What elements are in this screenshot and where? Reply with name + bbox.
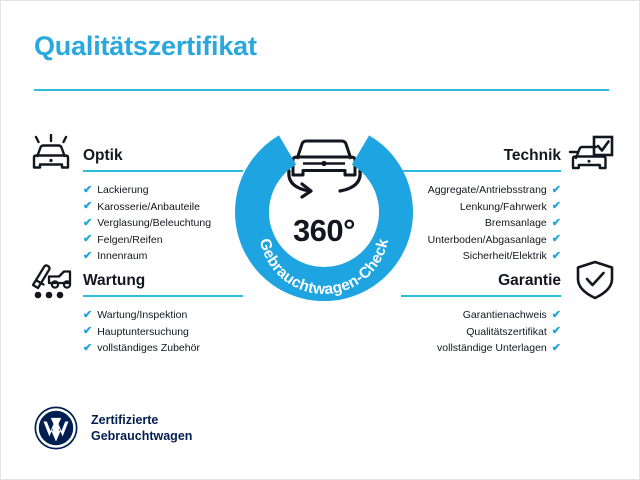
list-item: Aggregate/Antriebsstrang✔ (401, 182, 561, 199)
list-item: Garantienachweis✔ (401, 307, 561, 324)
list-item: ✔Karosserie/Anbauteile (83, 199, 243, 216)
list-item-label: Qualitätszertifikat (466, 324, 547, 341)
check-icon: ✔ (83, 326, 92, 337)
page-title: Qualitätszertifikat (34, 31, 257, 62)
list-item-label: Sicherheit/Elektrik (463, 248, 547, 265)
section-technik: Technik Aggregate/Antriebsstrang✔ Lenkun… (401, 146, 561, 265)
list-item-label: Lenkung/Fahrwerk (460, 199, 547, 216)
check-icon: ✔ (83, 185, 92, 196)
list-item-label: Lackierung (97, 182, 148, 199)
list-item: ✔Felgen/Reifen (83, 232, 243, 249)
list-item: ✔Innenraum (83, 248, 243, 265)
list-item-label: Wartung/Inspektion (97, 307, 187, 324)
list-item: vollständige Unterlagen✔ (401, 340, 561, 357)
check-icon: ✔ (552, 218, 561, 229)
check-icon: ✔ (552, 326, 561, 337)
footer-text: Zertifizierte Gebrauchtwagen (91, 412, 192, 444)
list-item-label: Bremsanlage (485, 215, 547, 232)
check-icon: ✔ (552, 251, 561, 262)
section-header: Wartung (83, 271, 243, 301)
list-item-label: Aggregate/Antriebsstrang (428, 182, 547, 199)
list-item: Sicherheit/Elektrik✔ (401, 248, 561, 265)
section-divider (83, 170, 243, 172)
list-item: ✔Wartung/Inspektion (83, 307, 243, 324)
section-title: Wartung (83, 271, 243, 291)
section-title: Technik (401, 146, 561, 166)
list-item-label: Garantienachweis (463, 307, 547, 324)
section-garantie: Garantie Garantienachweis✔ Qualitätszert… (401, 271, 561, 357)
list-item: Unterboden/Abgasanlage✔ (401, 232, 561, 249)
list-item-label: Hauptuntersuchung (97, 324, 189, 341)
qualitaetszertifikat-page: Qualitätszertifikat (0, 0, 640, 480)
vw-logo-icon (33, 405, 79, 451)
check-icon: ✔ (83, 310, 92, 321)
section-title: Garantie (401, 271, 561, 291)
list-item: Qualitätszertifikat✔ (401, 324, 561, 341)
checklist: Garantienachweis✔ Qualitätszertifikat✔ v… (401, 307, 561, 357)
list-item-label: Verglasung/Beleuchtung (97, 215, 211, 232)
footer-line-1: Zertifizierte (91, 412, 192, 428)
list-item: Bremsanlage✔ (401, 215, 561, 232)
section-divider (401, 295, 561, 297)
section-title: Optik (83, 146, 243, 166)
section-optik: Optik ✔Lackierung ✔Karosserie/Anbauteile… (83, 146, 243, 265)
check-icon: ✔ (552, 343, 561, 354)
list-item-label: vollständige Unterlagen (437, 340, 547, 357)
vw-footer: Zertifizierte Gebrauchtwagen (33, 405, 192, 451)
list-item-label: Innenraum (97, 248, 147, 265)
car-checkbox-icon (567, 134, 615, 176)
check-icon: ✔ (83, 218, 92, 229)
check-icon: ✔ (552, 310, 561, 321)
check-icon: ✔ (83, 251, 92, 262)
list-item: ✔Hauptuntersuchung (83, 324, 243, 341)
section-divider (83, 295, 243, 297)
section-divider (401, 170, 561, 172)
checklist: Aggregate/Antriebsstrang✔ Lenkung/Fahrwe… (401, 182, 561, 265)
wrench-car-icon (27, 259, 75, 301)
checklist: ✔Lackierung ✔Karosserie/Anbauteile ✔Verg… (83, 182, 243, 265)
list-item: ✔Lackierung (83, 182, 243, 199)
section-header: Technik (401, 146, 561, 176)
footer-line-2: Gebrauchtwagen (91, 428, 192, 444)
check-icon: ✔ (552, 201, 561, 212)
check-icon: ✔ (552, 185, 561, 196)
list-item: ✔Verglasung/Beleuchtung (83, 215, 243, 232)
section-wartung: Wartung ✔Wartung/Inspektion ✔Hauptunters… (83, 271, 243, 357)
check-icon: ✔ (83, 343, 92, 354)
list-item-label: Karosserie/Anbauteile (97, 199, 200, 216)
check-icon: ✔ (83, 201, 92, 212)
car-shine-icon (27, 134, 75, 176)
list-item: Lenkung/Fahrwerk✔ (401, 199, 561, 216)
list-item-label: Felgen/Reifen (97, 232, 162, 249)
check-icon: ✔ (83, 234, 92, 245)
section-header: Garantie (401, 271, 561, 301)
checklist: ✔Wartung/Inspektion ✔Hauptuntersuchung ✔… (83, 307, 243, 357)
badge-degrees-label: 360° (229, 213, 419, 249)
title-divider (34, 89, 609, 91)
shield-check-icon (571, 259, 619, 301)
list-item: ✔vollständiges Zubehör (83, 340, 243, 357)
gebrauchtwagen-check-badge: Gebrauchtwagen-Check 360° (229, 119, 419, 319)
list-item-label: Unterboden/Abgasanlage (428, 232, 547, 249)
section-header: Optik (83, 146, 243, 176)
list-item-label: vollständiges Zubehör (97, 340, 200, 357)
check-icon: ✔ (552, 234, 561, 245)
